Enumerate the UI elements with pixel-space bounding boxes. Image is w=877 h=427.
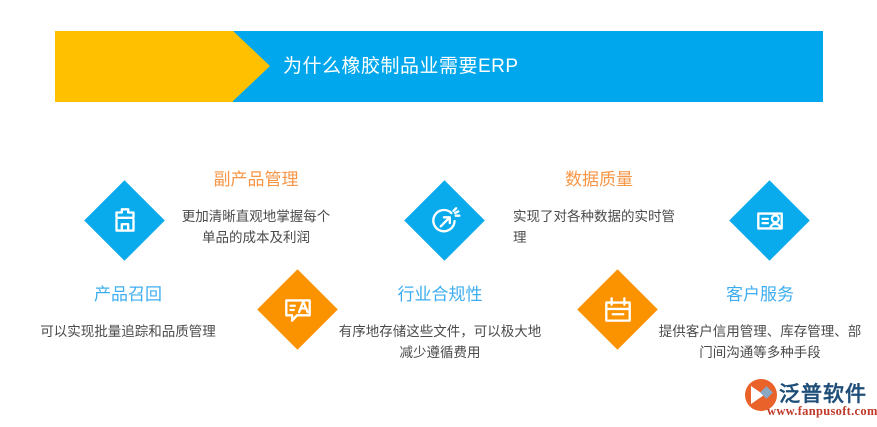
- feature-body: 有序地存储这些文件，可以极大地减少遵循费用: [338, 321, 542, 363]
- watermark-url: www.fanpusoft.com: [767, 404, 877, 419]
- feature-body: 实现了对各种数据的实时管理: [513, 206, 685, 248]
- translate-speech-bubble-icon: [269, 281, 326, 338]
- feature-service: 客户服务 提供客户信用管理、库存管理、部门间沟通等多种手段: [658, 283, 862, 376]
- feature-heading: 产品召回: [18, 283, 238, 307]
- header-banner: 为什么橡胶制品业需要ERP: [55, 31, 823, 102]
- feature-compliance: 行业合规性 有序地存储这些文件，可以极大地减少遵循费用: [338, 283, 542, 376]
- feature-body: 更加清晰直观地掌握每个单品的成本及利润: [176, 206, 336, 248]
- contact-card-icon: [741, 192, 798, 249]
- feature-heading: 客户服务: [658, 283, 862, 307]
- diamond-customer-card: [729, 180, 810, 261]
- feature-recall: 产品召回 可以实现批量追踪和品质管理: [18, 283, 238, 355]
- page-title: 为什么橡胶制品业需要ERP: [283, 31, 519, 102]
- feature-body: 可以实现批量追踪和品质管理: [18, 321, 238, 342]
- feature-byproduct: 副产品管理 更加清晰直观地掌握每个单品的成本及利润: [176, 168, 336, 261]
- feature-heading: 数据质量: [513, 168, 685, 192]
- diamond-storefront: [84, 180, 165, 261]
- feature-dataquality: 数据质量 实现了对各种数据的实时管理: [513, 168, 685, 261]
- banner-yellow-bar: [55, 31, 233, 102]
- banner-arrow-icon: [233, 31, 270, 101]
- calendar-note-icon: [589, 281, 646, 338]
- diamond-service: [577, 269, 658, 350]
- infographic-page: 为什么橡胶制品业需要ERP: [0, 0, 877, 427]
- feature-body: 提供客户信用管理、库存管理、部门间沟通等多种手段: [658, 321, 862, 363]
- feature-heading: 行业合规性: [338, 283, 542, 307]
- growth-arrow-icon: [416, 192, 473, 249]
- feature-heading: 副产品管理: [176, 168, 336, 192]
- diamond-compliance: [257, 269, 338, 350]
- diamond-growth: [404, 180, 485, 261]
- watermark: 泛普软件 www.fanpusoft.com: [745, 378, 873, 424]
- storefront-icon: [96, 192, 153, 249]
